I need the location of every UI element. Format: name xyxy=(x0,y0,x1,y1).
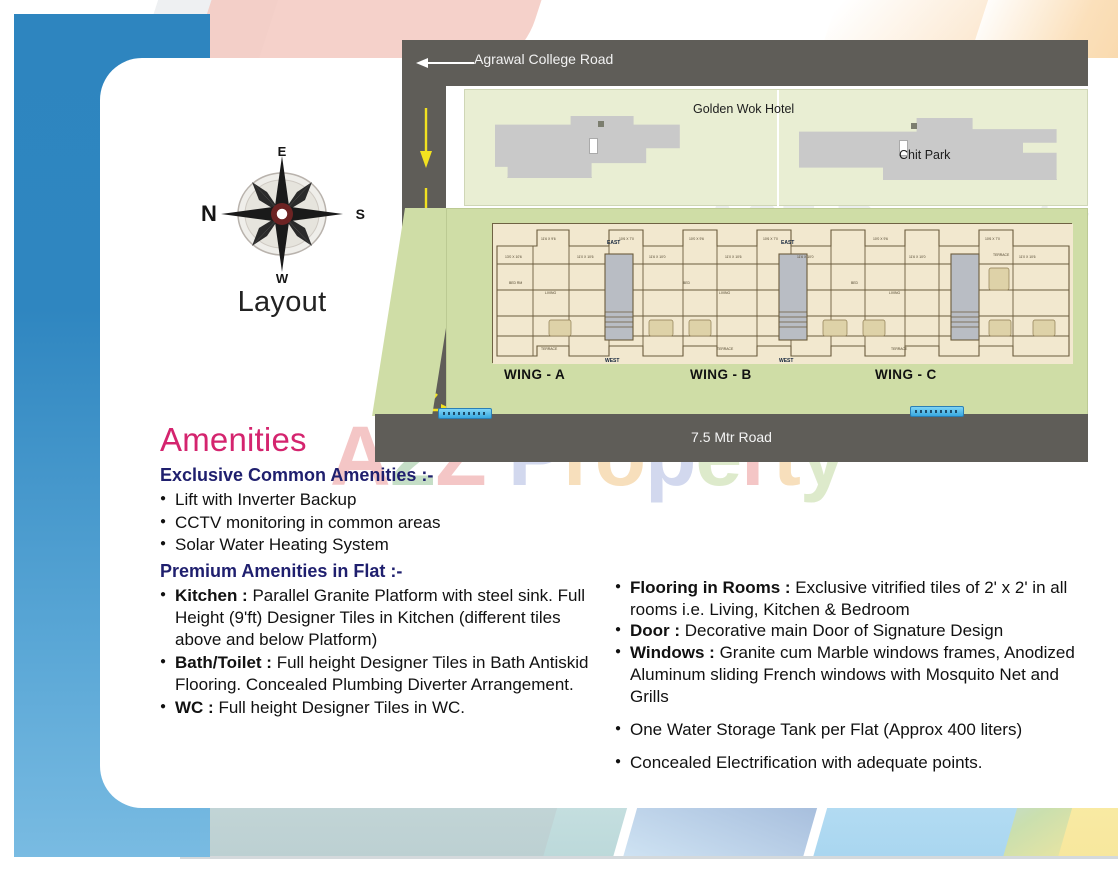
right-amenities-list: Flooring in Rooms : Exclusive vitrified … xyxy=(615,577,1100,774)
svg-text:11'0 X 10'6: 11'0 X 10'6 xyxy=(1019,255,1036,259)
amenity-item: Windows : Granite cum Marble windows fra… xyxy=(615,642,1100,708)
bottom-white-strip xyxy=(0,857,1118,871)
amenity-item: Kitchen : Parallel Granite Platform with… xyxy=(160,585,600,651)
svg-text:11'6 X 10'0: 11'6 X 10'0 xyxy=(797,255,814,259)
floor-plan-drawing: 13'0 X 10'611'6 X 9'6 11'0 X 10'610'6 X … xyxy=(492,223,1072,363)
svg-text:LIVING: LIVING xyxy=(545,291,556,295)
arrow-left-icon xyxy=(416,56,476,70)
building-left-dot xyxy=(598,121,604,127)
building-left-core xyxy=(589,138,598,154)
premium-amenities-list: Kitchen : Parallel Granite Platform with… xyxy=(160,585,600,719)
svg-text:TERRACE: TERRACE xyxy=(541,347,558,351)
amenity-item: Bath/Toilet : Full height Designer Tiles… xyxy=(160,652,600,696)
compass-label-south: S xyxy=(356,206,365,222)
amenity-label: Bath/Toilet : xyxy=(175,653,277,672)
svg-text:WEST: WEST xyxy=(605,358,619,364)
compass-label-east: E xyxy=(278,144,287,159)
svg-text:BED RM: BED RM xyxy=(509,281,522,285)
amenity-item: WC : Full height Designer Tiles in WC. xyxy=(160,697,600,719)
svg-text:TERRACE: TERRACE xyxy=(891,347,908,351)
svg-text:11'6 X 10'0: 11'6 X 10'0 xyxy=(649,255,666,259)
svg-text:BED: BED xyxy=(851,281,859,285)
amenity-item: Lift with Inverter Backup xyxy=(160,489,600,511)
svg-text:11'0 X 10'6: 11'0 X 10'6 xyxy=(725,255,742,259)
svg-text:11'6 X 9'6: 11'6 X 9'6 xyxy=(541,237,556,241)
amenity-item: Flooring in Rooms : Exclusive vitrified … xyxy=(615,577,1100,621)
svg-text:13'0 X 10'6: 13'0 X 10'6 xyxy=(505,255,522,259)
bottom-divider-line xyxy=(180,856,1118,859)
amenity-item: CCTV monitoring in common areas xyxy=(160,512,600,534)
amenity-label: Windows : xyxy=(630,643,720,662)
svg-text:10'6 X 7'0: 10'6 X 7'0 xyxy=(763,237,778,241)
site-layout-map: Agrawal College Road Golden Wok Hotel Ch… xyxy=(375,40,1088,452)
common-amenities-heading: Exclusive Common Amenities :- xyxy=(160,465,600,486)
floor-plan-svg: 13'0 X 10'611'6 X 9'6 11'0 X 10'610'6 X … xyxy=(493,224,1073,364)
svg-text:LIVING: LIVING xyxy=(889,291,900,295)
svg-text:EAST: EAST xyxy=(607,240,620,246)
svg-text:10'0 X 9'6: 10'0 X 9'6 xyxy=(873,237,888,241)
amenity-item: Door : Decorative main Door of Signature… xyxy=(615,620,1100,642)
svg-text:10'0 X 9'6: 10'0 X 9'6 xyxy=(689,237,704,241)
wing-label-c: WING - C xyxy=(875,367,937,382)
amenities-section: Amenities Exclusive Common Amenities :- … xyxy=(160,423,1100,774)
compass-label-north: N xyxy=(201,201,217,227)
building-right-dot xyxy=(911,123,917,129)
svg-text:WEST: WEST xyxy=(779,358,793,364)
layout-title: Layout xyxy=(192,286,372,319)
compass-rose-svg xyxy=(207,148,357,280)
svg-text:TERRACE: TERRACE xyxy=(993,253,1010,257)
compass-rose-icon: E W N S xyxy=(207,148,357,280)
main-plot: 13'0 X 10'611'6 X 9'6 11'0 X 10'610'6 X … xyxy=(446,208,1088,416)
amenities-left-column: Exclusive Common Amenities :- Lift with … xyxy=(160,465,600,774)
svg-text:11'0 X 10'6: 11'0 X 10'6 xyxy=(577,255,594,259)
svg-text:11'6 X 10'0: 11'6 X 10'0 xyxy=(909,255,926,259)
svg-text:LIVING: LIVING xyxy=(719,291,730,295)
amenity-item: Concealed Electrification with adequate … xyxy=(615,752,1100,774)
road-agrawal-college: Agrawal College Road xyxy=(402,40,1088,86)
amenities-heading: Amenities xyxy=(160,423,1100,458)
common-amenities-list: Lift with Inverter BackupCCTV monitoring… xyxy=(160,489,600,557)
svg-text:TERRACE: TERRACE xyxy=(717,347,734,351)
wing-label-a: WING - A xyxy=(504,367,565,382)
traffic-arrow-1 xyxy=(419,108,433,168)
wing-label-b: WING - B xyxy=(690,367,752,382)
entry-gate-left xyxy=(438,408,492,419)
label-chit-park: Chit Park xyxy=(899,148,950,162)
premium-amenities-heading: Premium Amenities in Flat :- xyxy=(160,561,600,582)
amenity-item: One Water Storage Tank per Flat (Approx … xyxy=(615,719,1100,741)
amenity-label: Kitchen : xyxy=(175,586,252,605)
label-golden-wok-hotel: Golden Wok Hotel xyxy=(693,102,794,116)
svg-text:10'6 X 7'0: 10'6 X 7'0 xyxy=(619,237,634,241)
svg-text:10'6 X 7'0: 10'6 X 7'0 xyxy=(985,237,1000,241)
amenity-label: Flooring in Rooms : xyxy=(630,578,795,597)
compass-label-west: W xyxy=(276,271,288,286)
svg-text:EAST: EAST xyxy=(781,240,794,246)
entry-gate-right xyxy=(910,406,964,417)
amenity-label: Door : xyxy=(630,621,685,640)
adjacent-plots: Golden Wok Hotel Chit Park xyxy=(464,89,1088,206)
svg-text:BED: BED xyxy=(683,281,691,285)
amenity-label: WC : xyxy=(175,698,218,717)
amenity-item: Solar Water Heating System xyxy=(160,534,600,556)
road-label-agrawal: Agrawal College Road xyxy=(474,51,613,67)
amenities-right-column: Flooring in Rooms : Exclusive vitrified … xyxy=(600,465,1100,774)
compass-block: E W N S Layout xyxy=(192,148,372,319)
